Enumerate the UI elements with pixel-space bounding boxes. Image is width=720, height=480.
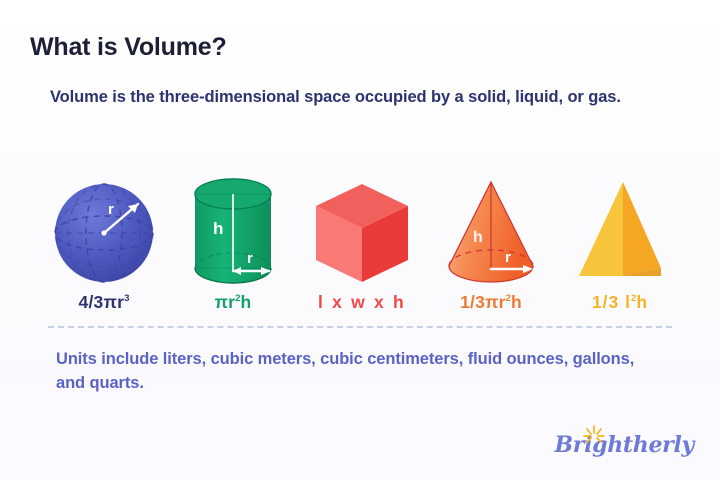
cube-formula: l x w x h xyxy=(318,292,406,313)
section-divider xyxy=(48,326,672,328)
pyramid-formula-tail: h xyxy=(636,292,648,312)
cylinder-icon: h r xyxy=(187,176,279,286)
cone-label-h: h xyxy=(473,229,483,246)
cylinder-formula: πr2h xyxy=(215,292,252,313)
infographic-card: What is Volume? Volume is the three-dime… xyxy=(0,0,720,480)
shapes-row: r 4/3πr3 xyxy=(42,163,682,313)
cone-formula-tail: h xyxy=(511,292,522,312)
sunburst-icon xyxy=(582,423,606,445)
shape-cell-pyramid: 1/3 l2h xyxy=(558,163,682,313)
shape-cell-cylinder: h r πr2h xyxy=(171,163,295,313)
cone-formula: 1/3πr2h xyxy=(460,292,522,313)
cone-illustration: h r xyxy=(441,174,541,286)
cylinder-label-h: h xyxy=(213,219,223,238)
cylinder-illustration: h r xyxy=(187,174,279,286)
sphere-illustration: r xyxy=(50,174,158,286)
pyramid-illustration xyxy=(571,174,669,286)
definition-text: Volume is the three-dimensional space oc… xyxy=(50,86,650,109)
brand-name: Brightherly xyxy=(554,432,694,458)
shape-cell-sphere: r 4/3πr3 xyxy=(42,163,166,313)
sphere-formula-exponent: 3 xyxy=(124,293,129,304)
pyramid-formula-base: 1/3 l xyxy=(592,292,631,312)
sphere-label-r: r xyxy=(108,201,114,218)
pyramid-formula: 1/3 l2h xyxy=(592,292,648,313)
pyramid-icon xyxy=(571,178,669,286)
cube-illustration xyxy=(310,174,414,286)
shape-cell-cone: h r 1/3πr2h xyxy=(429,163,553,313)
shape-cell-cube: l x w x h xyxy=(300,163,424,313)
cylinder-formula-tail: h xyxy=(241,292,252,312)
sphere-icon: r xyxy=(50,180,158,286)
sphere-formula-base: 4/3πr xyxy=(79,292,125,312)
page-title: What is Volume? xyxy=(30,33,227,62)
cylinder-formula-base: πr xyxy=(215,292,236,312)
cone-label-r: r xyxy=(505,249,511,266)
brand-logo: Brightherly xyxy=(554,432,694,458)
units-text: Units include liters, cubic meters, cubi… xyxy=(56,348,656,396)
sphere-formula: 4/3πr3 xyxy=(79,292,130,313)
cone-formula-base: 1/3πr xyxy=(460,292,506,312)
cone-icon: h r xyxy=(441,176,541,286)
cylinder-label-r: r xyxy=(247,250,253,267)
cube-icon xyxy=(310,180,414,286)
